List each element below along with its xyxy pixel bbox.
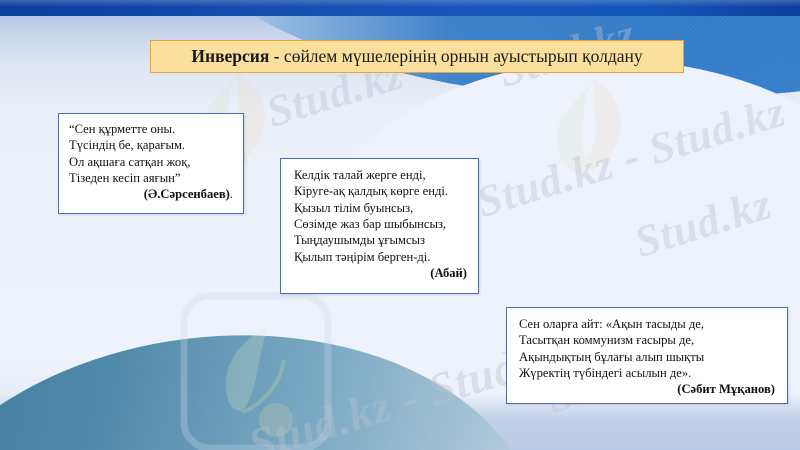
quote-line: Қызыл тілім буынсыз, (294, 200, 467, 216)
background-top-bar-sheen (0, 0, 800, 7)
quote-attribution: (Абай) (294, 265, 467, 281)
page-title: Инверсия - сөйлем мүшелерінің орнын ауыс… (191, 48, 642, 66)
quote-content: “Сен құрметте оны. Түсіндің бе, қарағым.… (59, 114, 243, 209)
quote-line: Тізеден кесіп аяғын” (69, 170, 233, 186)
quote-line: Тасытқан коммунизм ғасыры де, (519, 332, 775, 348)
quote-line: Кіруге-ақ қалдық көрге енді. (294, 183, 467, 199)
quote-attribution: (Ә.Сәрсенбаев). (69, 186, 233, 202)
quote-line: Жүректің түбіндегі асылын де». (519, 365, 775, 381)
quote-author: (Ә.Сәрсенбаев) (144, 187, 230, 201)
quote-box-mukanov: Сен оларға айт: «Ақын тасыды де, Тасытқа… (506, 307, 788, 404)
title-term: Инверсия - (191, 46, 279, 66)
quote-line: Келдік талай жерге енді, (294, 167, 467, 183)
quote-author: (Сәбит Мұқанов) (677, 382, 775, 396)
quote-line: “Сен құрметте оны. (69, 121, 233, 137)
title-definition: сөйлем мүшелерінің орнын ауыстырып қолда… (280, 46, 643, 66)
quote-line: Сен оларға айт: «Ақын тасыды де, (519, 316, 775, 332)
quote-content: Келдік талай жерге енді, Кіруге-ақ қалды… (281, 159, 478, 288)
slide-title-banner: Инверсия - сөйлем мүшелерінің орнын ауыс… (150, 40, 684, 73)
quote-attribution: (Сәбит Мұқанов) (519, 381, 775, 397)
quote-line: Тыңдаушымды ұғымсыз (294, 232, 467, 248)
quote-line: Ақындықтың бұлағы алып шықты (519, 349, 775, 365)
quote-line: Түсіндің бе, қарағым. (69, 137, 233, 153)
quote-author: (Абай) (430, 266, 467, 280)
quote-line: Ол ақшаға сатқан жоқ, (69, 154, 233, 170)
quote-author-suffix: . (230, 187, 233, 201)
quote-content: Сен оларға айт: «Ақын тасыды де, Тасытқа… (507, 308, 787, 404)
quote-box-sarsenbaev: “Сен құрметте оны. Түсіндің бе, қарағым.… (58, 113, 244, 214)
quote-box-abai: Келдік талай жерге енді, Кіруге-ақ қалды… (280, 158, 479, 294)
quote-line: Қылып тәңірім берген-ді. (294, 249, 467, 265)
presentation-slide: Stud.kz Stud.kz Stud.kz - Stud.kz Stud.k… (0, 0, 800, 450)
quote-line: Сөзімде жаз бар шыбынсыз, (294, 216, 467, 232)
